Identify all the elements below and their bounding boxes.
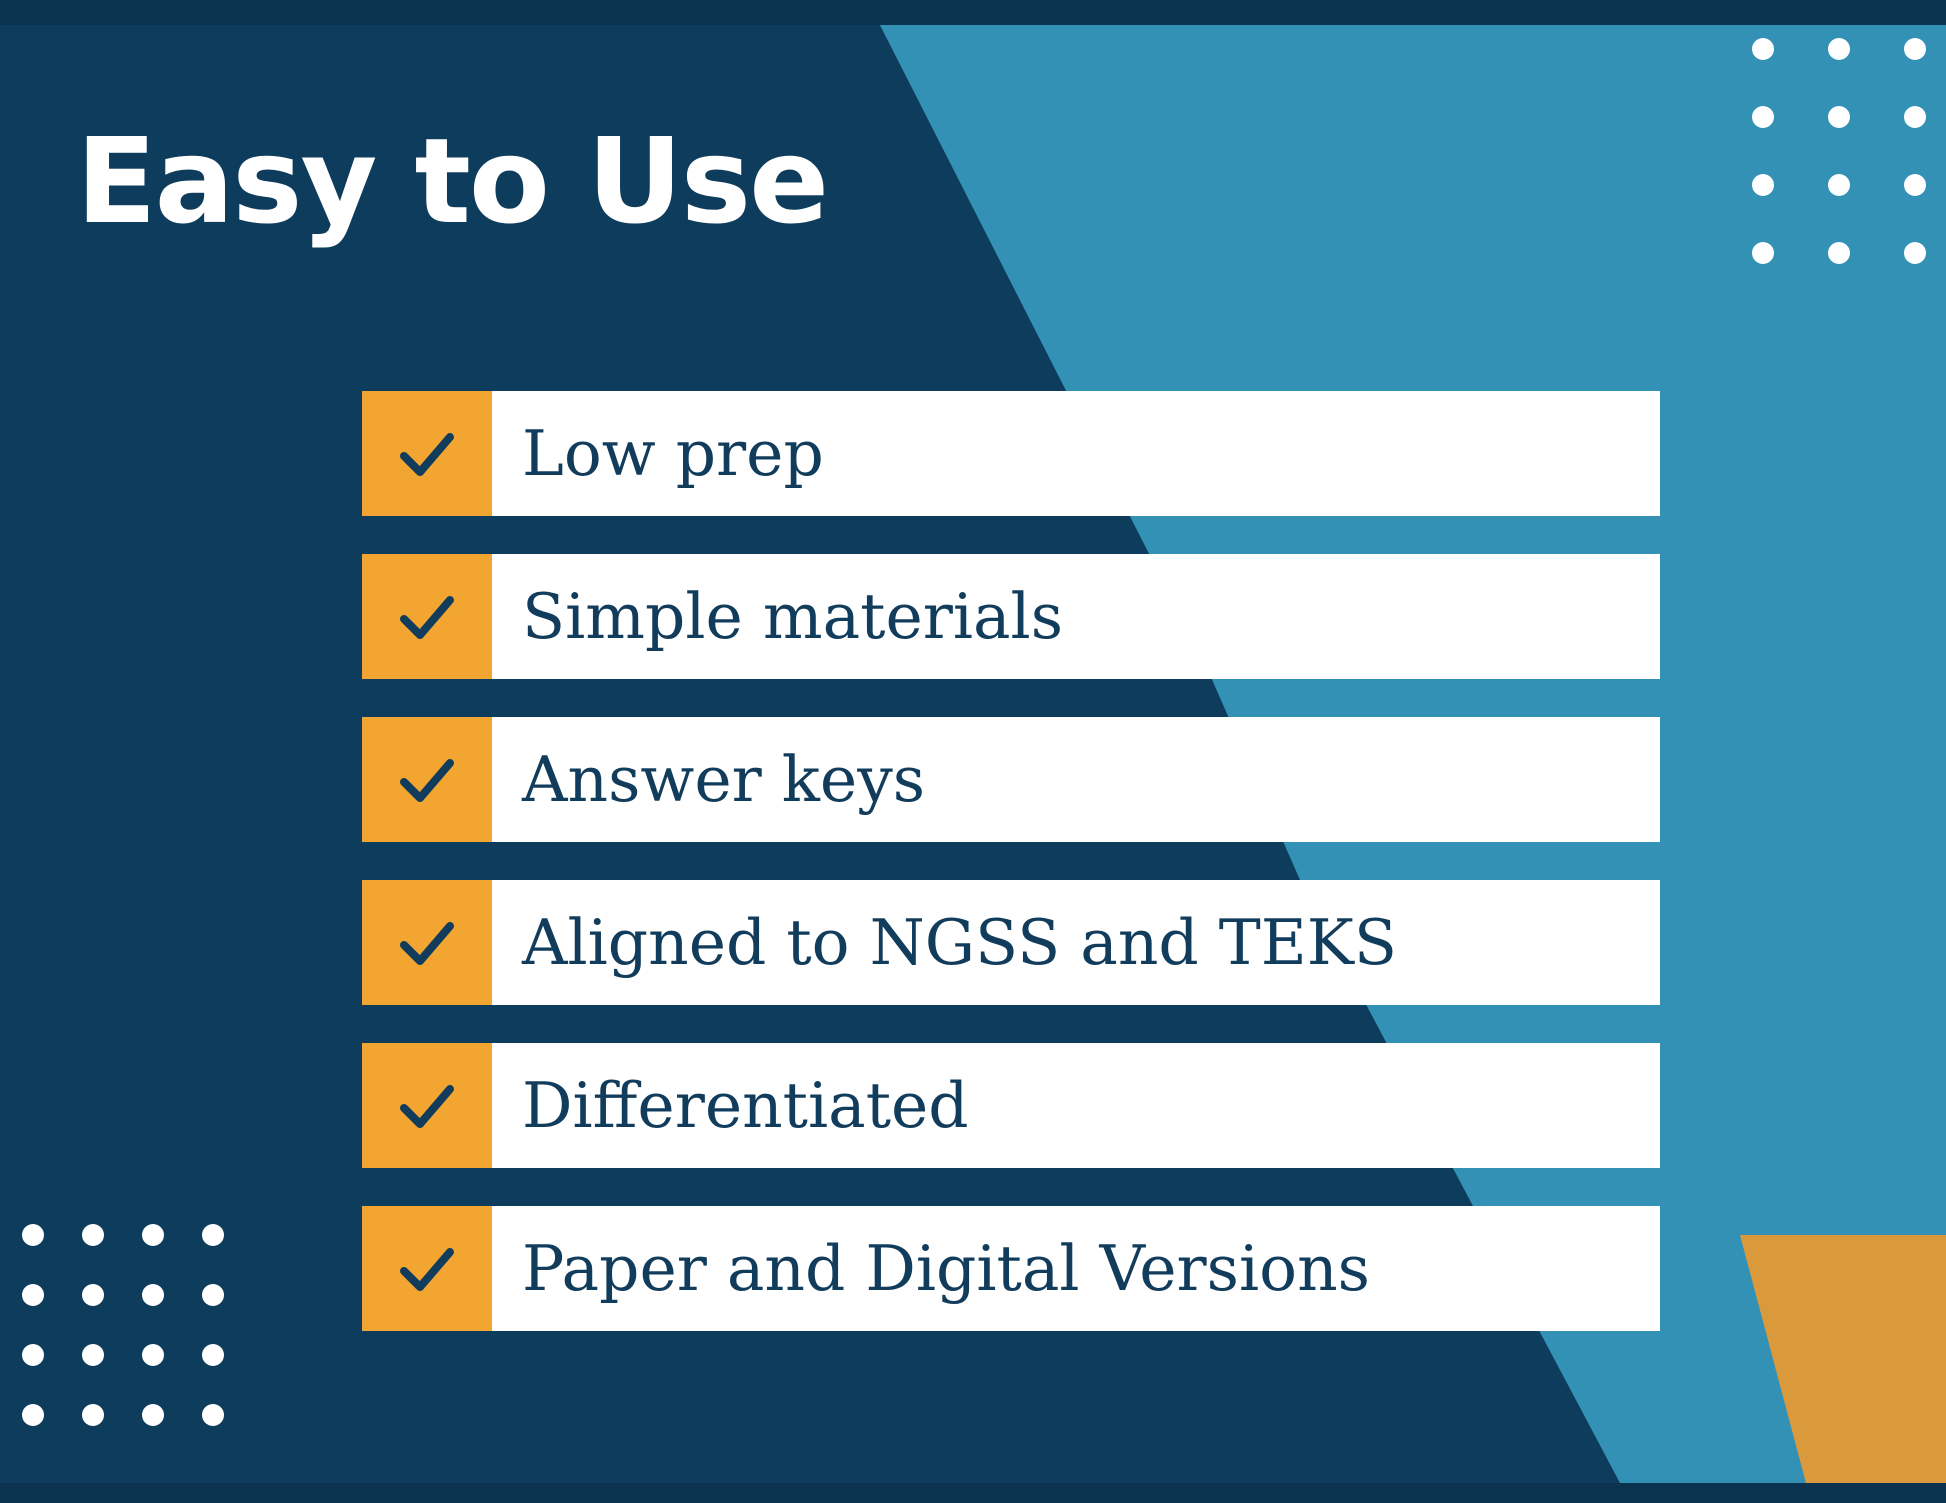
list-item-label: Answer keys: [492, 717, 1660, 842]
check-icon: [362, 717, 492, 842]
list-item[interactable]: Simple materials: [362, 554, 1660, 679]
dot: [82, 1404, 104, 1426]
dot: [1828, 38, 1850, 60]
list-item-label: Paper and Digital Versions: [492, 1206, 1660, 1331]
list-item[interactable]: Low prep: [362, 391, 1660, 516]
list-item-label: Low prep: [492, 391, 1660, 516]
dot: [142, 1344, 164, 1366]
dot: [142, 1224, 164, 1246]
dot: [22, 1284, 44, 1306]
dot: [142, 1284, 164, 1306]
dot: [1752, 242, 1774, 264]
dot: [1904, 242, 1926, 264]
list-item[interactable]: Aligned to NGSS and TEKS: [362, 880, 1660, 1005]
bottom-navy-strip: [0, 1483, 1946, 1503]
dot: [1752, 38, 1774, 60]
dot: [22, 1404, 44, 1426]
dot: [1752, 106, 1774, 128]
dot: [142, 1404, 164, 1426]
dot-grid-top-right: [1752, 38, 1946, 310]
top-navy-strip: [0, 0, 1946, 25]
list-item[interactable]: Paper and Digital Versions: [362, 1206, 1660, 1331]
dot: [1904, 174, 1926, 196]
dot: [1904, 106, 1926, 128]
checklist: Low prep Simple materials Answer keys: [362, 391, 1660, 1331]
dot: [202, 1284, 224, 1306]
dot: [1828, 174, 1850, 196]
check-icon: [362, 1043, 492, 1168]
dot: [202, 1404, 224, 1426]
dot: [1828, 242, 1850, 264]
list-item-label: Differentiated: [492, 1043, 1660, 1168]
list-item[interactable]: Answer keys: [362, 717, 1660, 842]
check-icon: [362, 1206, 492, 1331]
list-item-label: Simple materials: [492, 554, 1660, 679]
check-icon: [362, 391, 492, 516]
list-item-label: Aligned to NGSS and TEKS: [492, 880, 1660, 1005]
dot: [82, 1344, 104, 1366]
dot: [202, 1344, 224, 1366]
check-icon: [362, 880, 492, 1005]
dot: [1904, 38, 1926, 60]
dot: [202, 1224, 224, 1246]
dot: [22, 1224, 44, 1246]
list-item[interactable]: Differentiated: [362, 1043, 1660, 1168]
slide-canvas: Easy to Use Low prep Simple materials: [0, 0, 1946, 1503]
dot: [82, 1284, 104, 1306]
dot-grid-bottom-left: [22, 1224, 262, 1464]
check-icon: [362, 554, 492, 679]
page-title: Easy to Use: [76, 120, 827, 244]
dot: [1828, 106, 1850, 128]
dot: [1752, 174, 1774, 196]
dot: [22, 1344, 44, 1366]
dot: [82, 1224, 104, 1246]
